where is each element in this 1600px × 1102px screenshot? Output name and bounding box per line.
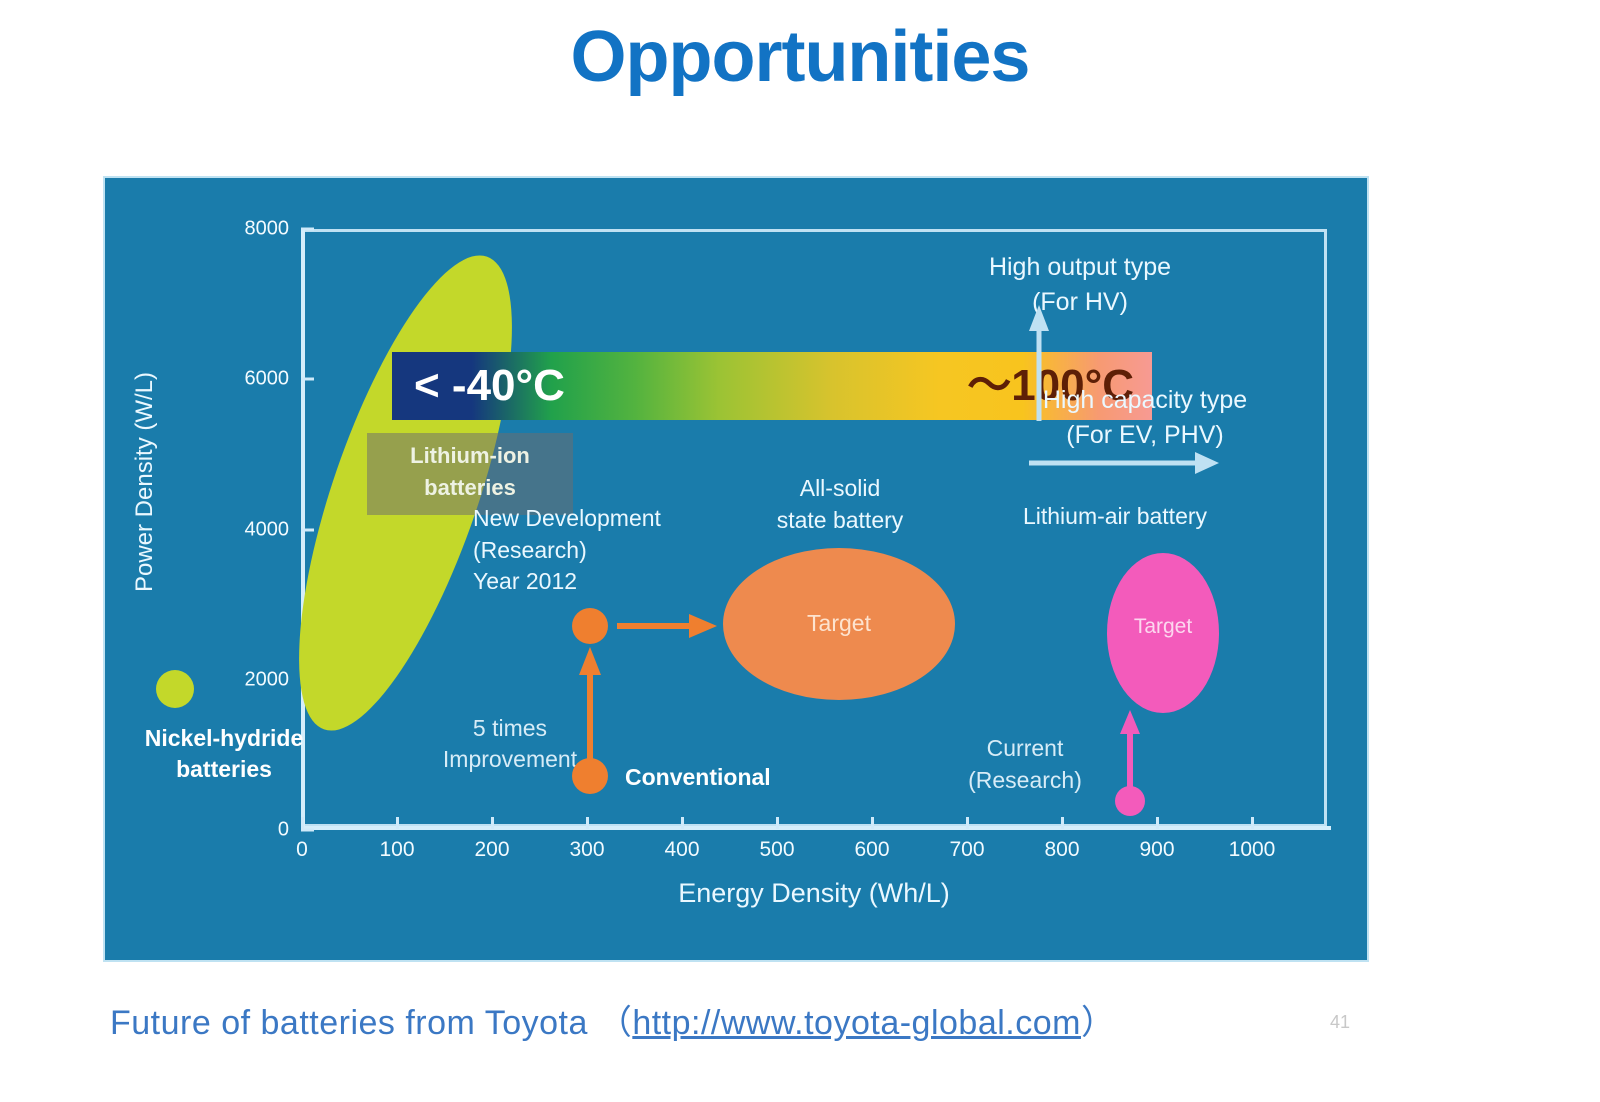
chart-panel: 0 2000 4000 6000 8000 0 100 200 300 400 … [105, 178, 1367, 960]
x-axis-line [301, 826, 1331, 830]
lithium-air-target-label: Target [1107, 615, 1219, 639]
x-tick-label-100: 100 [357, 838, 437, 862]
high-capacity-line1: High capacity type [1043, 386, 1247, 414]
temperature-low-label: < -40°C [392, 352, 565, 420]
y-tick-mark-4000 [301, 529, 314, 532]
x-tick-mark-1000 [1251, 817, 1254, 829]
x-tick-label-700: 700 [927, 838, 1007, 862]
new-development-line1: New Development [473, 505, 661, 531]
page-number: 41 [1330, 1012, 1350, 1033]
x-tick-label-200: 200 [452, 838, 532, 862]
arrow-right-orange-icon [617, 612, 717, 640]
x-tick-mark-400 [681, 817, 684, 829]
x-tick-label-0: 0 [262, 838, 342, 862]
improvement-line2: Improvement [443, 746, 577, 772]
lithium-ion-label-line2: batteries [424, 475, 516, 500]
all-solid-target-label: Target [723, 610, 955, 637]
conventional-label: Conventional [625, 764, 771, 791]
new-development-dot [572, 608, 608, 644]
x-tick-label-400: 400 [642, 838, 722, 862]
x-tick-mark-100 [396, 817, 399, 829]
new-development-line3: Year 2012 [473, 568, 577, 594]
new-development-label: New Development (Research) Year 2012 [473, 503, 733, 598]
lithium-ion-label: Lithium-ion batteries [367, 440, 573, 504]
high-capacity-line2: (For EV, PHV) [1066, 421, 1223, 449]
x-tick-mark-600 [871, 817, 874, 829]
x-tick-label-600: 600 [832, 838, 912, 862]
all-solid-line2: state battery [777, 507, 904, 533]
x-tick-mark-800 [1061, 817, 1064, 829]
improvement-line1: 5 times [473, 715, 547, 741]
arrow-up-orange-icon [579, 645, 601, 763]
y-tick-label-4000: 4000 [199, 519, 289, 542]
source-link[interactable]: http://www.toyota-global.com [632, 1004, 1081, 1042]
all-solid-state-battery-label: All-solid state battery [715, 473, 965, 536]
nickel-hydride-label-line2: batteries [176, 756, 272, 782]
x-tick-label-900: 900 [1117, 838, 1197, 862]
new-development-line2: (Research) [473, 537, 587, 563]
lithium-air-current-line2: (Research) [968, 767, 1082, 793]
lithium-ion-label-line1: Lithium-ion [410, 443, 530, 468]
high-capacity-type-label: High capacity type (For EV, PHV) [965, 383, 1325, 453]
x-tick-mark-500 [776, 817, 779, 829]
source-caption-prefix: Future of batteries from Toyota （ [110, 1004, 632, 1042]
lithium-air-current-line1: Current [987, 735, 1064, 761]
conventional-dot [572, 758, 608, 794]
nickel-hydride-label-line1: Nickel-hydride [145, 725, 304, 751]
lithium-air-current-dot [1115, 786, 1145, 816]
arrow-right-white-icon [1029, 450, 1219, 476]
y-tick-label-8000: 8000 [199, 218, 289, 241]
arrow-up-pink-icon [1120, 708, 1140, 798]
source-caption: Future of batteries from Toyota （http://… [110, 995, 1115, 1044]
x-tick-mark-200 [491, 817, 494, 829]
x-tick-mark-0 [301, 817, 304, 829]
x-tick-mark-700 [966, 817, 969, 829]
x-tick-label-500: 500 [737, 838, 817, 862]
lithium-air-current-label: Current (Research) [945, 733, 1105, 796]
x-tick-label-300: 300 [547, 838, 627, 862]
x-tick-label-1000: 1000 [1212, 838, 1292, 862]
source-caption-suffix: ） [1081, 1004, 1116, 1042]
x-axis-title: Energy Density (Wh/L) [301, 878, 1327, 909]
y-axis-title: Power Density (W/L) [131, 262, 159, 702]
high-output-line1: High output type [989, 253, 1171, 281]
y-tick-mark-6000 [301, 378, 314, 381]
all-solid-line1: All-solid [800, 475, 881, 501]
x-tick-mark-300 [586, 817, 589, 829]
y-tick-label-6000: 6000 [199, 368, 289, 391]
page-title: Opportunities [0, 18, 1600, 97]
y-tick-label-2000: 2000 [199, 669, 289, 692]
lithium-air-battery-label: Lithium-air battery [955, 503, 1275, 530]
nickel-hydride-label: Nickel-hydride batteries [99, 723, 349, 785]
high-output-type-label: High output type (For HV) [915, 250, 1245, 320]
y-tick-mark-8000 [301, 228, 314, 231]
x-tick-label-800: 800 [1022, 838, 1102, 862]
nickel-hydride-dot [156, 670, 194, 708]
x-tick-mark-900 [1156, 817, 1159, 829]
